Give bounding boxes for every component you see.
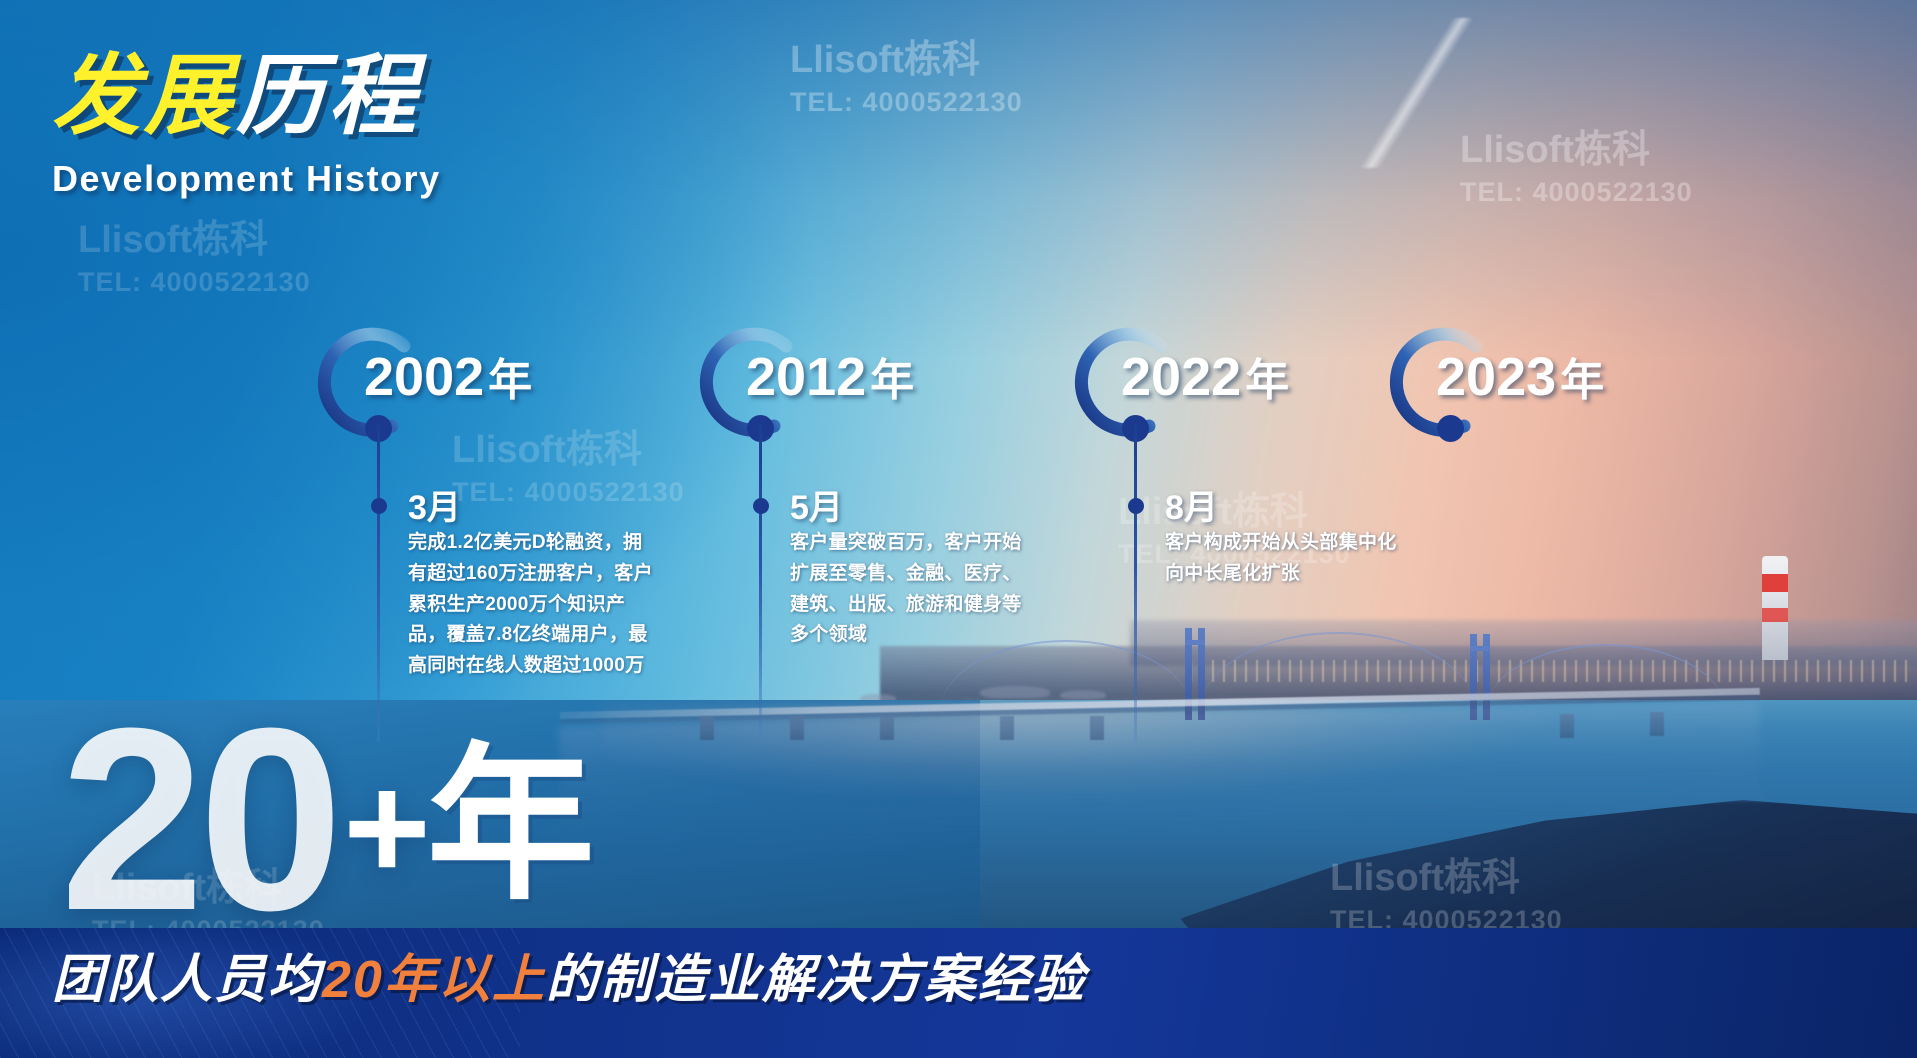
node-year: 2002年 bbox=[364, 344, 532, 408]
node-dot-small bbox=[753, 498, 769, 514]
node-stem bbox=[1134, 424, 1137, 742]
banner-suffix: 的制造业解决方案经验 bbox=[546, 951, 1086, 1009]
node-dot-small bbox=[371, 498, 387, 514]
node-year: 2022年 bbox=[1121, 344, 1289, 408]
node-year-suffix: 年 bbox=[1245, 356, 1289, 405]
node-description: 完成1.2亿美元D轮融资，拥有超过160万注册客户，客户累积生产2000万个知识… bbox=[408, 528, 658, 682]
banner-tagline: 团队人员均20年以上的制造业解决方案经验 bbox=[52, 954, 1086, 1006]
node-month: 8月 bbox=[1165, 480, 1218, 529]
node-year: 2023年 bbox=[1436, 344, 1604, 408]
node-description: 客户量突破百万，客户开始扩展至零售、金融、医疗、建筑、出版、旅游和健身等多个领域 bbox=[790, 528, 1040, 651]
poster-canvas: Llisoft栋科 TEL: 4000522130 Llisoft栋科 TEL:… bbox=[0, 0, 1917, 1058]
node-year-suffix: 年 bbox=[1560, 356, 1604, 405]
node-month: 3月 bbox=[408, 480, 461, 529]
bottom-banner: 团队人员均20年以上的制造业解决方案经验 bbox=[0, 928, 1917, 1058]
years-highlight: 20+年 bbox=[60, 690, 595, 950]
node-month: 5月 bbox=[790, 480, 843, 529]
banner-prefix: 团队人员均 bbox=[52, 951, 322, 1009]
node-year-suffix: 年 bbox=[870, 356, 914, 405]
node-year-suffix: 年 bbox=[488, 356, 532, 405]
banner-emphasis: 20年以上 bbox=[322, 951, 546, 1009]
years-unit: 年 bbox=[427, 731, 595, 919]
years-plus: + bbox=[343, 743, 425, 911]
node-dot-small bbox=[1128, 498, 1144, 514]
node-stem bbox=[759, 424, 762, 742]
node-description: 客户构成开始从头部集中化向中长尾化扩张 bbox=[1165, 528, 1415, 590]
years-number: 20 bbox=[60, 675, 337, 965]
node-year: 2012年 bbox=[746, 344, 914, 408]
node-dot-large bbox=[1437, 415, 1464, 442]
